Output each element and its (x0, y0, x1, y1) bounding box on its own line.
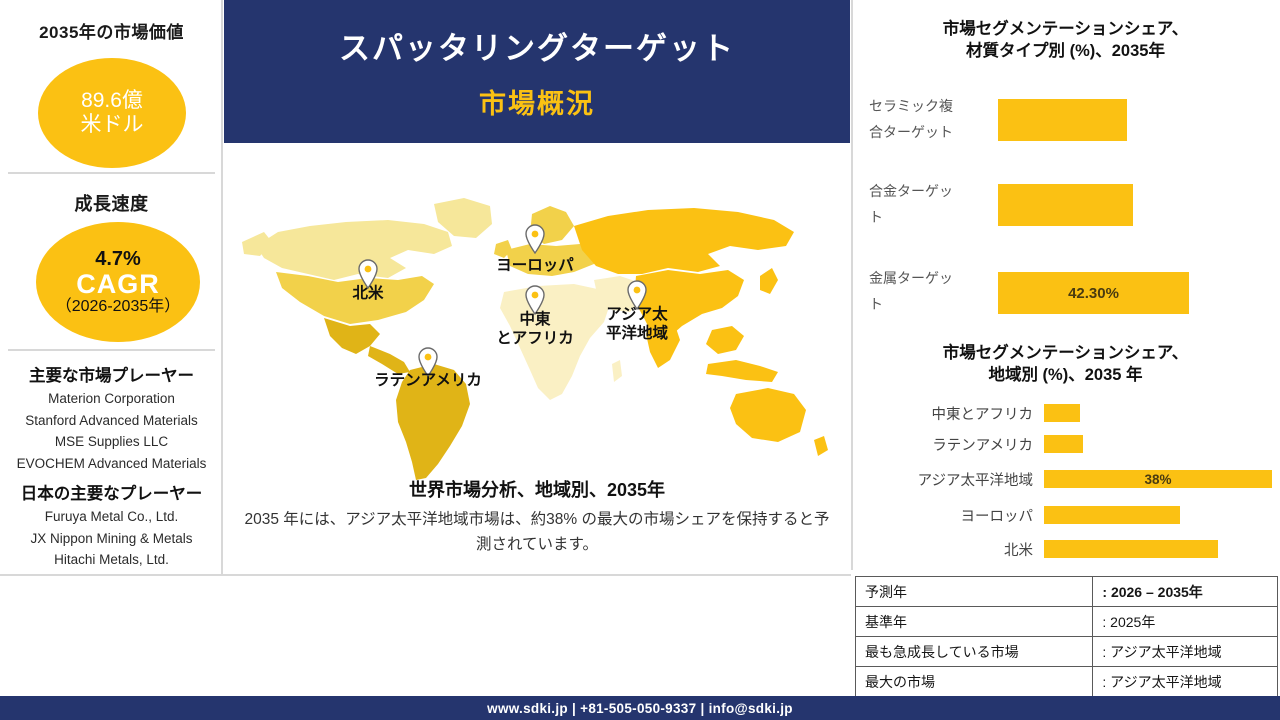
map-region-new-zealand (814, 436, 828, 456)
table-row: 基準年 : 2025年 (856, 607, 1278, 637)
spec-key: 最大の市場 (856, 667, 1093, 697)
bar-label-europe: ヨーロッパ (865, 505, 1033, 526)
spec-key: 予測年 (856, 577, 1093, 607)
market-value-line2: 米ドル (81, 113, 144, 137)
global-players-heading: 主要な市場プレーヤー (0, 362, 223, 386)
page-title: スパッタリングターゲット (339, 23, 735, 68)
cagr-period: （2026-2035年） (56, 298, 181, 316)
bar-na (1044, 540, 1218, 558)
bar-ceramic (998, 99, 1127, 141)
spec-value: : 2025年 (1093, 607, 1278, 637)
title-header: スパッタリングターゲット 市場概況 (224, 0, 850, 143)
map-pin-europe-icon[interactable] (524, 224, 546, 254)
market-spec-table: 予測年 : 2026 – 2035年 基準年 : 2025年 最も急成長している… (855, 576, 1278, 697)
list-item: Furuya Metal Co., Ltd. (0, 506, 223, 528)
spec-value: : アジア太平洋地域 (1093, 637, 1278, 667)
cagr-rate: 4.7% (95, 248, 141, 270)
cagr-metric: CAGR (76, 269, 160, 299)
market-value-heading: 2035年の市場価値 (0, 18, 223, 43)
bar-mea (1044, 404, 1080, 422)
region-chart-title: 市場セグメンテーションシェア、 地域別 (%)、2035 年 (859, 342, 1272, 386)
table-row: 予測年 : 2026 – 2035年 (856, 577, 1278, 607)
cagr-bubble: 4.7% CAGR （2026-2035年） (36, 222, 200, 342)
list-item: Hitachi Metals, Ltd. (0, 549, 223, 571)
infographic-root: 2035年の市場価値 89.6億 米ドル 成長速度 4.7% CAGR （202… (0, 0, 1280, 720)
market-value-bubble: 89.6億 米ドル (38, 58, 186, 168)
map-label-north-america: 北米 (332, 284, 404, 303)
map-region-japan (760, 268, 778, 294)
list-item: EVOCHEM Advanced Materials (0, 453, 223, 475)
divider-1 (8, 172, 215, 174)
bar-latam (1044, 435, 1083, 453)
table-row: 最大の市場 : アジア太平洋地域 (856, 667, 1278, 697)
bar-label-alloy: 合金ターゲッ ト (869, 178, 989, 230)
material-chart-title: 市場セグメンテーションシェア、 材質タイプ別 (%)、2035年 (859, 18, 1272, 62)
bar-label-apac: アジア太平洋地域 (865, 469, 1033, 490)
growth-heading: 成長速度 (0, 190, 223, 216)
list-item: Materion Corporation (0, 388, 223, 410)
bar-label-ceramic: セラミック複 合ターゲット (869, 93, 989, 145)
footer-contact-bar: www.sdki.jp | +81-505-050-9337 | info@sd… (0, 696, 1280, 720)
right-column-border (851, 0, 853, 570)
left-column-border (221, 0, 223, 575)
map-label-europe: ヨーロッパ (455, 256, 615, 275)
bar-apac: 38% (1044, 470, 1272, 488)
spec-key: 基準年 (856, 607, 1093, 637)
map-label-asia-pacific: アジア太 平洋地域 (577, 305, 697, 343)
japan-players-list: Furuya Metal Co., Ltd. JX Nippon Mining … (0, 506, 223, 571)
bar-label-mea: 中東とアフリカ (865, 403, 1033, 424)
global-players-list: Materion Corporation Stanford Advanced M… (0, 388, 223, 474)
market-value-line1: 89.6億 (81, 89, 143, 113)
list-item: MSE Supplies LLC (0, 431, 223, 453)
list-item: Stanford Advanced Materials (0, 410, 223, 432)
right-sidebar: 市場セグメンテーションシェア、 材質タイプ別 (%)、2035年 セラミック複 … (851, 0, 1280, 570)
map-region-madagascar (612, 360, 622, 382)
footer-text: www.sdki.jp | +81-505-050-9337 | info@sd… (487, 701, 793, 716)
map-label-latin-america: ラテンアメリカ (344, 371, 512, 390)
bar-label-metal: 金属ターゲッ ト (869, 265, 989, 317)
map-region-indonesia (706, 360, 778, 382)
bar-alloy (998, 184, 1133, 226)
map-region-central-america (368, 346, 410, 374)
japan-players-heading: 日本の主要なプレーヤー (0, 480, 223, 504)
spec-value: : アジア太平洋地域 (1093, 667, 1278, 697)
bar-europe (1044, 506, 1180, 524)
left-sidebar: 2035年の市場価値 89.6億 米ドル 成長速度 4.7% CAGR （202… (0, 0, 223, 575)
divider-2 (8, 349, 215, 351)
spec-key: 最も急成長している市場 (856, 637, 1093, 667)
map-description: 2035 年には、アジア太平洋地域市場は、約38% の最大の市場シェアを保持する… (240, 507, 834, 557)
map-caption: 世界市場分析、地域別、2035年 (224, 476, 850, 502)
page-subtitle: 市場概況 (479, 82, 595, 121)
partner-logos: EVOCHEM ADVANCED MATERIALS K FK Furuya M… (0, 576, 851, 696)
map-region-canada (256, 220, 452, 280)
map-region-australia (730, 388, 806, 442)
table-row: 最も急成長している市場 : アジア太平洋地域 (856, 637, 1278, 667)
bar-label-na: 北米 (865, 539, 1033, 560)
spec-value: : 2026 – 2035年 (1093, 577, 1278, 607)
map-region-sea (706, 326, 744, 354)
bar-label-latam: ラテンアメリカ (865, 434, 1033, 455)
bar-metal: 42.30% (998, 272, 1189, 314)
list-item: JX Nippon Mining & Metals (0, 528, 223, 550)
world-map-panel: 北米 ラテンアメリカ ヨーロッパ 中東 とアフリカ アジア太 (224, 143, 850, 575)
